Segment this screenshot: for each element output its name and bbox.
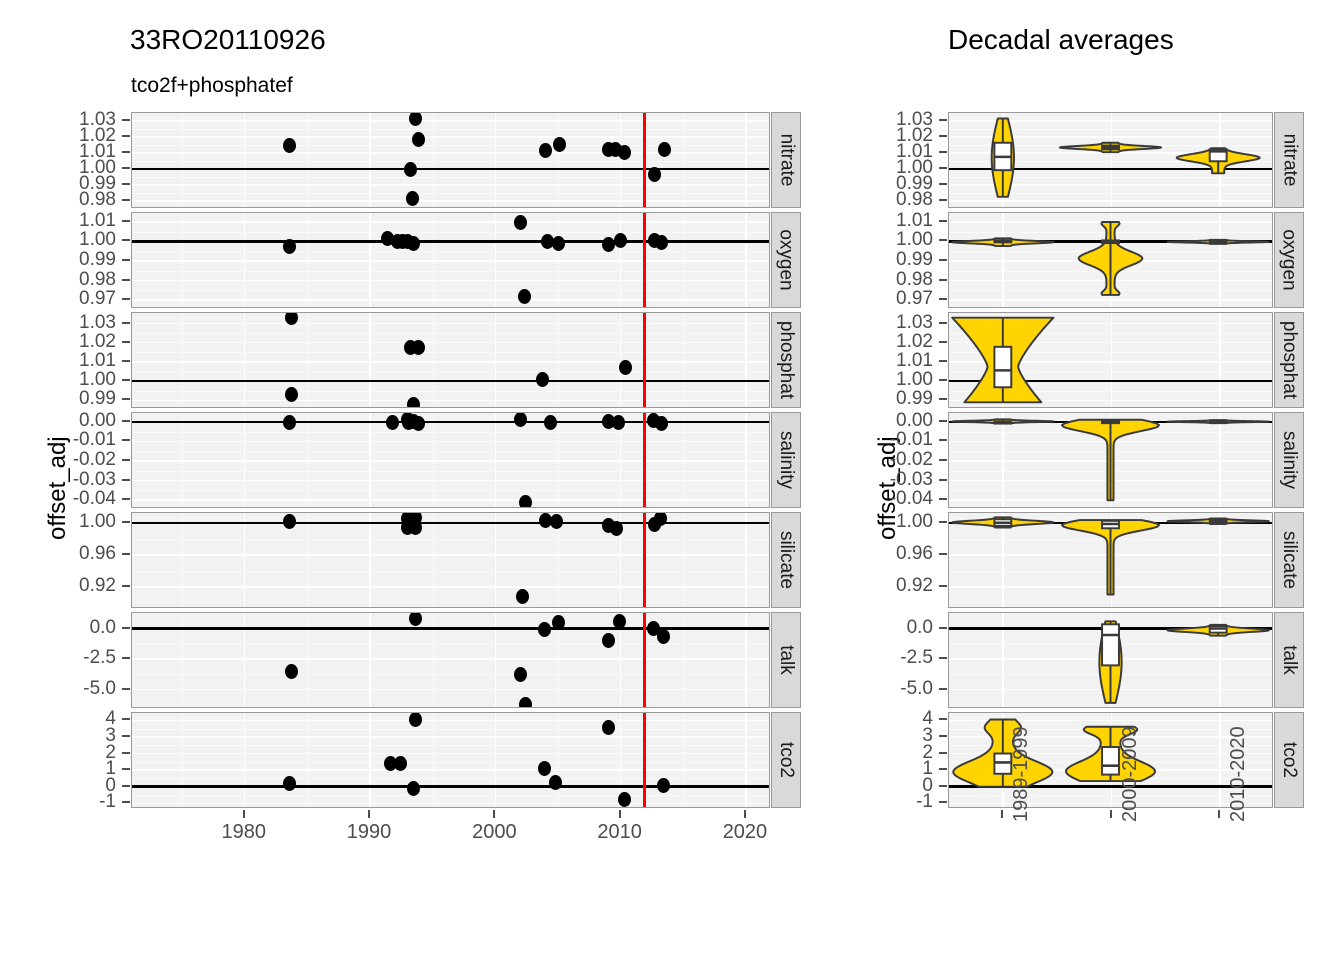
vgridline-major: [244, 213, 245, 307]
strip-label-tco2: tco2: [771, 712, 801, 808]
y-tick-mark: [122, 801, 130, 803]
y-tick-label: -2.5: [11, 647, 116, 669]
gridline-minor: [132, 762, 769, 763]
violin-strip-label-nitrate: nitrate: [1274, 112, 1304, 208]
data-point: [657, 778, 670, 793]
plot-panel-talk: [131, 612, 770, 708]
y-tick-label: 0.97: [11, 288, 116, 310]
data-point: [514, 667, 527, 682]
vgridline-minor: [683, 413, 684, 507]
y-tick-mark: [939, 259, 947, 261]
data-point: [407, 397, 420, 408]
y-tick-label: 0.0: [11, 617, 116, 639]
y-tick-mark: [939, 239, 947, 241]
data-point: [553, 137, 566, 152]
data-point: [514, 412, 527, 427]
gridline-major: [132, 342, 769, 343]
vgridline-minor: [558, 413, 559, 507]
vgridline-major: [369, 313, 370, 407]
violin-salinity-2010-2020: [949, 413, 1272, 507]
y-tick-mark: [939, 498, 947, 500]
strip-label-silicate: silicate: [771, 512, 801, 608]
violin-strip-label-tco2: tco2: [1274, 712, 1304, 808]
vgridline-minor: [307, 713, 308, 807]
gridline-minor: [132, 644, 769, 645]
left-panel-title: 33RO20110926: [130, 24, 326, 56]
right-panel-title: Decadal averages: [948, 24, 1174, 56]
strip-text: tco2: [775, 742, 797, 778]
data-point: [602, 237, 615, 252]
reference-line: [132, 785, 769, 788]
gridline-major: [132, 221, 769, 222]
strip-text: phosphat: [1278, 321, 1300, 399]
gridline-minor: [132, 729, 769, 730]
y-tick-mark: [939, 627, 947, 629]
gridline-major: [132, 441, 769, 442]
gridline-major: [132, 720, 769, 721]
data-point: [612, 415, 625, 430]
x-tick-mark: [619, 810, 621, 818]
y-tick-mark: [939, 657, 947, 659]
violin-panel-phosphat: [948, 312, 1273, 408]
plot-panel-silicate: [131, 512, 770, 608]
gridline-major: [132, 299, 769, 300]
data-point: [283, 138, 296, 153]
gridline-major: [132, 554, 769, 555]
data-point: [648, 167, 661, 182]
y-tick-mark: [939, 752, 947, 754]
data-point: [407, 781, 420, 796]
y-tick-label: -2.5: [828, 647, 933, 669]
data-point: [552, 615, 565, 630]
data-point: [655, 416, 668, 431]
vgridline-minor: [307, 313, 308, 407]
x-tick-mark: [1218, 810, 1220, 818]
vgridline-major: [620, 113, 621, 207]
y-tick-mark: [122, 718, 130, 720]
y-tick-mark: [122, 585, 130, 587]
y-tick-label: 0.0: [828, 617, 933, 639]
vgridline-minor: [433, 413, 434, 507]
x-tick-label: 2010: [597, 821, 642, 844]
vgridline-minor: [433, 113, 434, 207]
data-point: [614, 233, 627, 248]
data-point: [404, 162, 417, 177]
data-point: [519, 495, 532, 508]
gridline-minor: [132, 232, 769, 233]
vgridline-major: [620, 213, 621, 307]
y-tick-mark: [122, 627, 130, 629]
reference-line: [132, 240, 769, 243]
y-tick-mark: [122, 151, 130, 153]
vgridline-major: [745, 713, 746, 807]
data-point: [619, 360, 632, 375]
x-tick-label: 2020: [723, 821, 768, 844]
y-tick-mark: [122, 341, 130, 343]
reference-line: [132, 627, 769, 630]
vgridline-major: [495, 413, 496, 507]
strip-text: oxygen: [1278, 229, 1300, 290]
vgridline-minor: [182, 513, 183, 607]
y-tick-mark: [122, 259, 130, 261]
vgridline-major: [495, 513, 496, 607]
strip-label-talk: talk: [771, 612, 801, 708]
y-tick-label: 0.92: [828, 575, 933, 597]
vgridline-major: [620, 313, 621, 407]
vgridline-minor: [182, 313, 183, 407]
data-point: [409, 112, 422, 126]
y-tick-mark: [122, 239, 130, 241]
vgridline-major: [244, 713, 245, 807]
gridline-major: [132, 658, 769, 659]
y-tick-label: -5.0: [828, 678, 933, 700]
data-point: [602, 633, 615, 648]
data-point: [519, 697, 532, 708]
gridline-minor: [132, 161, 769, 162]
gridline-minor: [132, 490, 769, 491]
gridline-major: [132, 120, 769, 121]
y-tick-mark: [939, 459, 947, 461]
vgridline-major: [369, 413, 370, 507]
strip-text: nitrate: [775, 134, 797, 187]
vgridline-minor: [558, 213, 559, 307]
data-point: [536, 372, 549, 387]
reference-line: [132, 522, 769, 525]
y-tick-mark: [939, 298, 947, 300]
x-tick-mark: [1110, 810, 1112, 818]
x-tick-label-decade: 2010-2020: [1227, 726, 1250, 822]
y-tick-mark: [122, 785, 130, 787]
y-tick-mark: [939, 398, 947, 400]
x-tick-mark: [1001, 810, 1003, 818]
gridline-minor: [132, 145, 769, 146]
y-tick-label: -1: [828, 791, 933, 813]
cruise-year-marker: [643, 413, 646, 507]
data-point: [283, 514, 296, 529]
y-tick-label: -5.0: [11, 678, 116, 700]
x-tick-label: 2000: [472, 821, 517, 844]
strip-text: phosphat: [775, 321, 797, 399]
data-point: [602, 720, 615, 735]
data-point: [538, 622, 551, 637]
vgridline-major: [244, 513, 245, 607]
vgridline-minor: [683, 113, 684, 207]
vgridline-major: [244, 413, 245, 507]
violin-strip-label-phosphat: phosphat: [1274, 312, 1304, 408]
reference-line: [132, 168, 769, 171]
y-tick-mark: [939, 479, 947, 481]
gridline-minor: [132, 193, 769, 194]
y-tick-label: 0.96: [11, 543, 116, 565]
vgridline-minor: [307, 413, 308, 507]
gridline-major: [132, 480, 769, 481]
y-tick-mark: [939, 420, 947, 422]
plot-panel-phosphat: [131, 312, 770, 408]
y-tick-label: 0.99: [11, 388, 116, 410]
vgridline-major: [369, 213, 370, 307]
strip-text: tco2: [1278, 742, 1300, 778]
vgridline-major: [745, 113, 746, 207]
data-point: [618, 792, 631, 807]
y-tick-mark: [939, 379, 947, 381]
y-tick-mark: [122, 657, 130, 659]
left-panel-subtitle: tco2f+phosphatef: [131, 74, 293, 98]
y-tick-mark: [939, 718, 947, 720]
y-tick-mark: [939, 151, 947, 153]
vgridline-minor: [433, 513, 434, 607]
x-tick-label: 1990: [347, 821, 392, 844]
data-point: [613, 614, 626, 629]
y-tick-mark: [122, 521, 130, 523]
gridline-major: [132, 260, 769, 261]
x-tick-mark: [744, 810, 746, 818]
y-tick-mark: [122, 439, 130, 441]
data-point: [544, 415, 557, 430]
vgridline-minor: [433, 313, 434, 407]
violin-panel-talk: [948, 612, 1273, 708]
strip-label-phosphat: phosphat: [771, 312, 801, 408]
vgridline-minor: [307, 213, 308, 307]
y-tick-label: -0.04: [11, 488, 116, 510]
gridline-minor: [132, 372, 769, 373]
y-tick-mark: [122, 479, 130, 481]
y-tick-mark: [939, 801, 947, 803]
vgridline-minor: [307, 113, 308, 207]
violin-strip-label-salinity: salinity: [1274, 412, 1304, 508]
vgridline-minor: [683, 213, 684, 307]
gridline-minor: [132, 129, 769, 130]
violin-panel-tco2: [948, 712, 1273, 808]
gridline-minor: [132, 290, 769, 291]
vgridline-minor: [182, 113, 183, 207]
x-tick-label-decade: 2000-2009: [1119, 726, 1142, 822]
y-tick-mark: [939, 735, 947, 737]
vgridline-minor: [182, 413, 183, 507]
vgridline-major: [369, 113, 370, 207]
y-tick-mark: [122, 752, 130, 754]
y-tick-mark: [939, 183, 947, 185]
x-tick-mark: [493, 810, 495, 818]
vgridline-major: [495, 313, 496, 407]
gridline-minor: [132, 745, 769, 746]
vgridline-major: [369, 513, 370, 607]
gridline-minor: [132, 539, 769, 540]
violin-talk-2010-2020: [949, 613, 1272, 707]
violin-panel-salinity: [948, 412, 1273, 508]
vgridline-minor: [307, 513, 308, 607]
violin-panel-oxygen: [948, 212, 1273, 308]
y-tick-mark: [939, 220, 947, 222]
vgridline-minor: [558, 313, 559, 407]
data-point: [658, 142, 671, 157]
y-tick-label: -1: [11, 791, 116, 813]
data-point: [552, 236, 565, 251]
y-tick-label: 1.00: [828, 511, 933, 533]
data-point: [283, 415, 296, 430]
y-tick-mark: [939, 521, 947, 523]
gridline-minor: [132, 571, 769, 572]
y-tick-mark: [122, 322, 130, 324]
y-tick-mark: [939, 768, 947, 770]
y-tick-mark: [939, 785, 947, 787]
y-tick-mark: [122, 553, 130, 555]
y-tick-mark: [122, 498, 130, 500]
y-tick-mark: [122, 119, 130, 121]
y-tick-mark: [939, 135, 947, 137]
y-tick-mark: [122, 420, 130, 422]
gridline-minor: [132, 333, 769, 334]
data-point: [407, 236, 420, 251]
x-tick-label: 1980: [222, 821, 267, 844]
plot-panel-nitrate: [131, 112, 770, 208]
gridline-major: [132, 460, 769, 461]
reference-line: [132, 380, 769, 383]
y-tick-mark: [122, 220, 130, 222]
x-tick-mark: [243, 810, 245, 818]
data-point: [394, 756, 407, 771]
vgridline-major: [244, 113, 245, 207]
y-tick-mark: [122, 768, 130, 770]
gridline-major: [132, 361, 769, 362]
vgridline-minor: [683, 313, 684, 407]
data-point: [516, 589, 529, 604]
plot-panel-oxygen: [131, 212, 770, 308]
cruise-year-marker: [643, 613, 646, 707]
y-tick-mark: [122, 167, 130, 169]
vgridline-major: [745, 213, 746, 307]
plot-panel-tco2: [131, 712, 770, 808]
gridline-minor: [132, 251, 769, 252]
data-point: [409, 520, 422, 535]
gridline-major: [132, 586, 769, 587]
data-point: [550, 514, 563, 529]
vgridline-minor: [558, 713, 559, 807]
gridline-major: [132, 499, 769, 500]
violin-silicate-2010-2020: [949, 513, 1272, 607]
data-point: [549, 775, 562, 790]
y-tick-mark: [939, 585, 947, 587]
vgridline-major: [745, 513, 746, 607]
y-tick-mark: [122, 688, 130, 690]
y-tick-mark: [939, 439, 947, 441]
gridline-major: [132, 200, 769, 201]
gridline-major: [132, 184, 769, 185]
gridline-minor: [132, 391, 769, 392]
data-point: [539, 143, 552, 158]
vgridline-minor: [182, 213, 183, 307]
vgridline-minor: [683, 513, 684, 607]
y-tick-mark: [122, 360, 130, 362]
gridline-major: [132, 753, 769, 754]
cruise-year-marker: [643, 313, 646, 407]
y-tick-mark: [939, 279, 947, 281]
data-point: [514, 215, 527, 230]
gridline-minor: [132, 432, 769, 433]
data-point: [409, 712, 422, 727]
gridline-minor: [132, 271, 769, 272]
vgridline-minor: [433, 713, 434, 807]
gridline-major: [132, 803, 769, 804]
y-tick-mark: [939, 199, 947, 201]
violin-panel-silicate: [948, 512, 1273, 608]
gridline-major: [132, 152, 769, 153]
data-point: [655, 235, 668, 250]
vgridline-major: [244, 313, 245, 407]
y-tick-mark: [122, 459, 130, 461]
vgridline-major: [745, 413, 746, 507]
strip-text: oxygen: [775, 229, 797, 290]
gridline-minor: [132, 177, 769, 178]
y-tick-mark: [939, 360, 947, 362]
strip-text: salinity: [775, 431, 797, 489]
y-tick-label: 0.99: [828, 388, 933, 410]
data-point: [386, 415, 399, 430]
data-point: [518, 289, 531, 304]
gridline-minor: [132, 795, 769, 796]
y-tick-mark: [122, 298, 130, 300]
x-tick-mark: [368, 810, 370, 818]
y-tick-label: -0.04: [828, 488, 933, 510]
data-point: [283, 776, 296, 791]
y-tick-label: 0.96: [828, 543, 933, 565]
violin-oxygen-2010-2020: [949, 213, 1272, 307]
figure-root: 33RO20110926 tco2f+phosphatef Decadal av…: [0, 0, 1344, 960]
violin-phosphat-1989-1999: [949, 313, 1272, 407]
y-tick-mark: [122, 735, 130, 737]
data-point: [412, 416, 425, 431]
x-tick-label-decade: 1989-1999: [1010, 726, 1033, 822]
cruise-year-marker: [643, 113, 646, 207]
gridline-major: [132, 323, 769, 324]
data-point: [409, 612, 422, 626]
violin-tco2-2000-2009: [949, 713, 1272, 807]
y-tick-mark: [122, 279, 130, 281]
vgridline-major: [495, 113, 496, 207]
violin-strip-label-talk: talk: [1274, 612, 1304, 708]
strip-text: silicate: [1278, 531, 1300, 589]
data-point: [406, 191, 419, 206]
violin-strip-label-oxygen: oxygen: [1274, 212, 1304, 308]
y-tick-label: 1.00: [11, 511, 116, 533]
violin-nitrate-2010-2020: [949, 113, 1272, 207]
gridline-major: [132, 280, 769, 281]
vgridline-minor: [433, 213, 434, 307]
gridline-major: [132, 769, 769, 770]
cruise-year-marker: [643, 713, 646, 807]
y-tick-mark: [939, 553, 947, 555]
strip-label-salinity: salinity: [771, 412, 801, 508]
gridline-minor: [132, 778, 769, 779]
plot-panel-salinity: [131, 412, 770, 508]
y-tick-mark: [939, 688, 947, 690]
y-tick-mark: [122, 398, 130, 400]
vgridline-minor: [683, 713, 684, 807]
strip-text: salinity: [1278, 431, 1300, 489]
violin-panel-nitrate: [948, 112, 1273, 208]
strip-text: talk: [775, 645, 797, 675]
data-point: [610, 521, 623, 536]
gridline-major: [132, 400, 769, 401]
vgridline-major: [369, 713, 370, 807]
strip-text: talk: [1278, 645, 1300, 675]
cruise-year-marker: [643, 513, 646, 607]
y-tick-label: 0.98: [828, 189, 933, 211]
data-point: [538, 761, 551, 776]
violin-strip-label-silicate: silicate: [1274, 512, 1304, 608]
boxplot-box: [994, 347, 1011, 387]
boxplot-box: [1102, 747, 1119, 775]
vgridline-minor: [182, 713, 183, 807]
